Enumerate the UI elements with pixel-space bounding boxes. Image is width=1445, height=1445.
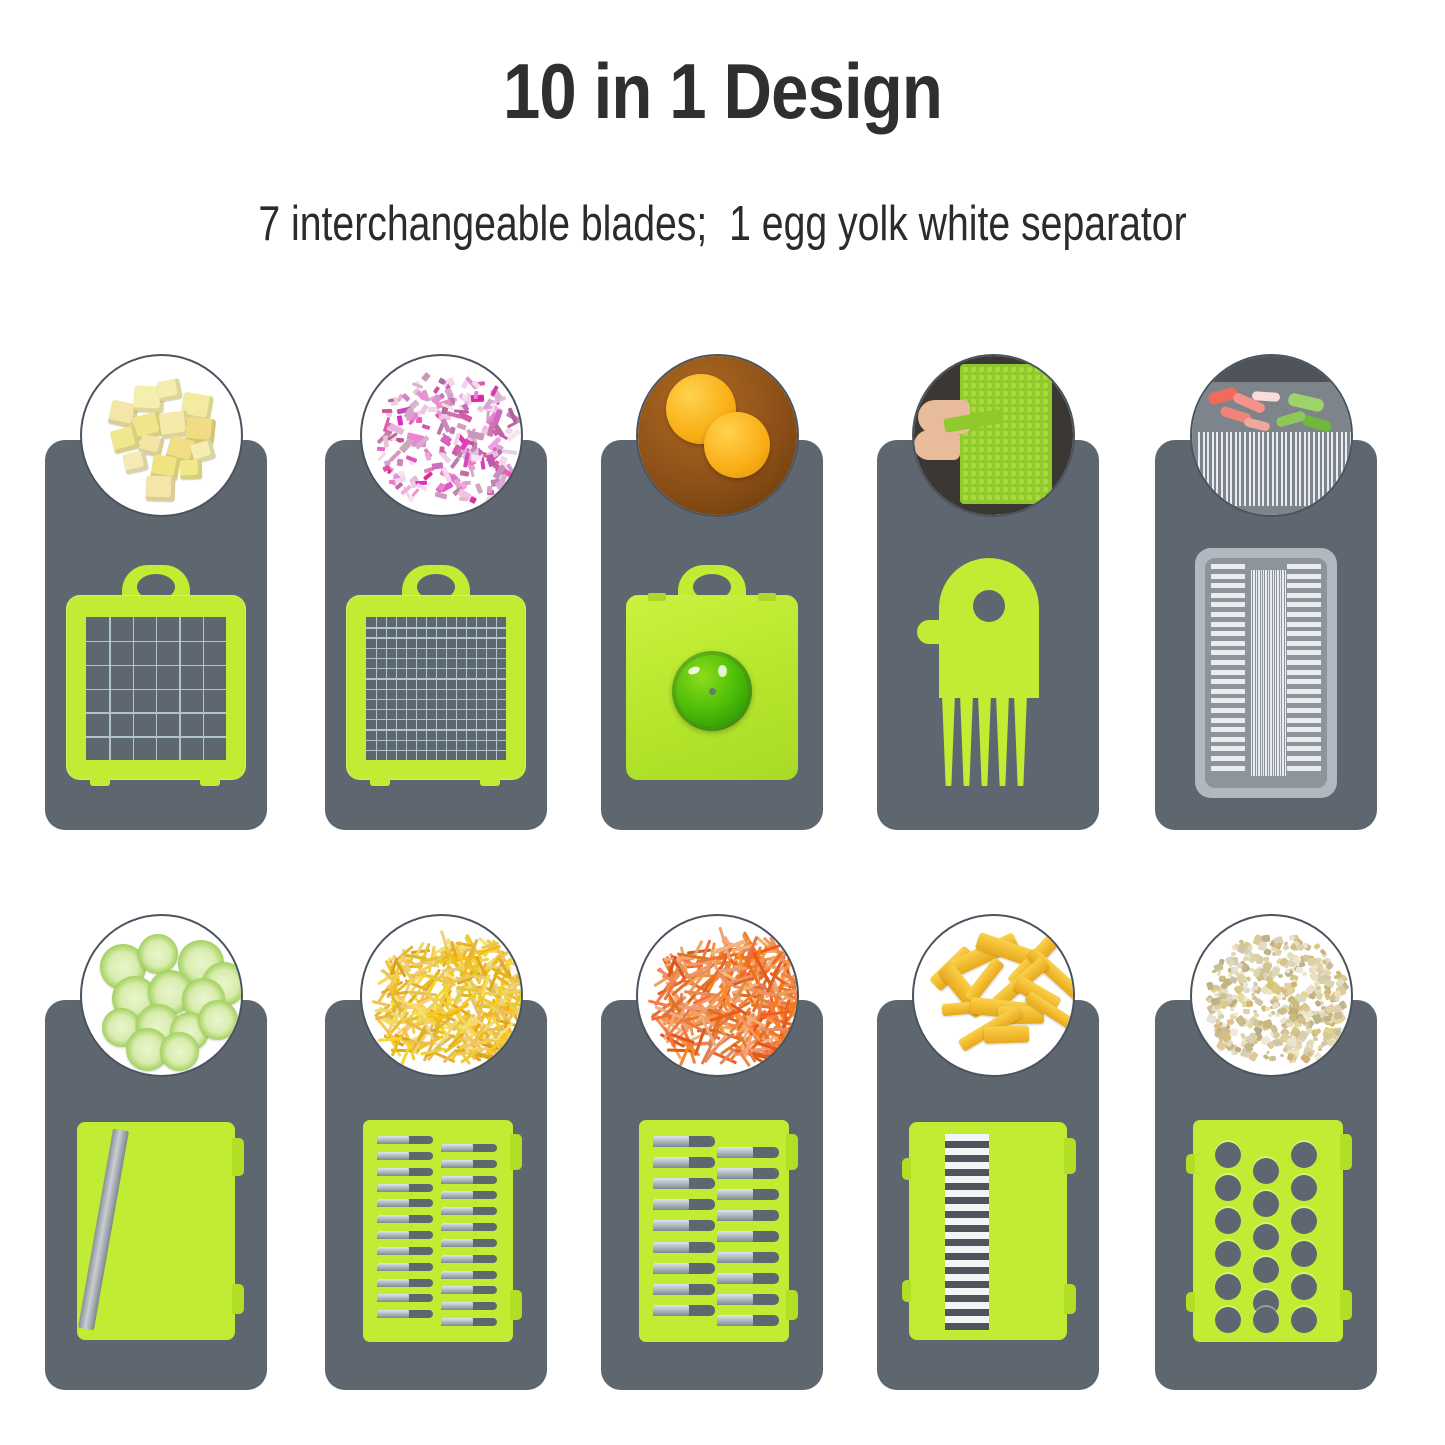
onion-bit [397, 415, 404, 426]
brush-stud [1027, 375, 1032, 380]
basket-comb-tooth [1276, 432, 1278, 506]
basket-slot [1287, 574, 1321, 579]
brush-stud [987, 391, 992, 396]
garlic-granule [1296, 967, 1303, 973]
brush-stud [963, 471, 968, 476]
basket-slot [1287, 679, 1321, 684]
brush-stud [987, 487, 992, 492]
brush-stud [1003, 399, 1008, 404]
brush-stud [979, 463, 984, 468]
basket-slot [1287, 583, 1321, 588]
basket-comb-tooth [1253, 432, 1255, 506]
julienne-tooth [717, 1273, 779, 1284]
comb-hole [973, 590, 1005, 622]
garlic-granule [1282, 997, 1286, 1001]
grid-line-horizontal [86, 712, 226, 713]
basket-slot [1211, 708, 1245, 713]
fine-potato-julienne-photo [360, 914, 523, 1077]
brush-stud [987, 439, 992, 444]
cleaning-comb-tool [917, 558, 1059, 788]
blade-tab-right [758, 593, 776, 601]
brush-stud [1027, 423, 1032, 428]
brush-stud [1043, 495, 1048, 500]
brush-stud [1003, 479, 1008, 484]
basket-comb-tooth [1226, 432, 1228, 506]
brush-stud [963, 455, 968, 460]
julienne-tooth [377, 1279, 433, 1287]
potato-cube [156, 378, 182, 402]
grater-hole [1291, 1175, 1317, 1201]
crinkle-cut-fries-photo [912, 914, 1075, 1077]
onion-bit [487, 486, 493, 493]
brush-stud [979, 367, 984, 372]
brush-stud [995, 375, 1000, 380]
basket-slot [1287, 631, 1321, 636]
garlic-granule [1265, 1007, 1270, 1011]
feature-tile-9 [850, 900, 1132, 1400]
brush-stud [987, 399, 992, 404]
garlic-granule [1320, 1040, 1328, 1047]
basket-slot [1253, 570, 1254, 776]
julienne-tooth [441, 1207, 497, 1215]
grater-hole [1215, 1142, 1241, 1168]
julienne-tooth [441, 1160, 497, 1168]
onion-bit [456, 423, 466, 431]
basket-comb-tooth [1235, 432, 1237, 506]
brush-stud [971, 447, 976, 452]
basket-slot [1287, 650, 1321, 655]
basket-comb-tooth [1290, 432, 1292, 506]
brush-stud [1011, 447, 1016, 452]
basket-slot [1211, 727, 1245, 732]
garlic-granule [1306, 1027, 1313, 1033]
brush-stud [971, 431, 976, 436]
garlic-granule [1328, 1040, 1336, 1046]
julienne-tooth [377, 1136, 433, 1144]
brush-stud [1035, 399, 1040, 404]
comb-body [939, 558, 1039, 698]
garlic-granule [1275, 942, 1282, 948]
basket-comb-tooth [1239, 432, 1241, 506]
brush-stud [987, 431, 992, 436]
brush-stud [963, 439, 968, 444]
cucumber-slice [160, 1032, 199, 1071]
brush-stud [971, 495, 976, 500]
julienne-tooth [377, 1294, 433, 1302]
basket-comb-tooth [1267, 432, 1269, 506]
garlic-granule [1243, 1009, 1250, 1014]
brush-stud [1011, 487, 1016, 492]
brush-stud [1027, 447, 1032, 452]
julienne-tooth [377, 1184, 433, 1192]
basket-comb-tooth [1221, 432, 1223, 506]
brush-stud [1011, 423, 1016, 428]
onion-bit [471, 454, 483, 461]
brush-stud [995, 439, 1000, 444]
diced-potato-cubes-photo [80, 354, 243, 517]
julienne-tooth [377, 1231, 433, 1239]
grater-hole [1291, 1241, 1317, 1267]
brush-stud [979, 375, 984, 380]
feature-tile-4 [850, 340, 1132, 840]
brush-stud [1019, 439, 1024, 444]
brush-stud [971, 439, 976, 444]
brush-stud [1043, 479, 1048, 484]
julienne-tooth [377, 1247, 433, 1255]
julienne-tooth [441, 1318, 497, 1326]
fine-dicing-blade [346, 565, 526, 780]
grater-hole [1291, 1142, 1317, 1168]
grid-line-vertical [179, 617, 180, 760]
basket-comb-tooth [1304, 432, 1306, 506]
basket-slot [1287, 708, 1321, 713]
brush-stud [1003, 487, 1008, 492]
onion-bit [439, 446, 445, 452]
julienne-tooth [377, 1263, 433, 1271]
basket-comb-tooth [1272, 432, 1274, 506]
basket-slot [1280, 570, 1281, 776]
basket-comb-tooth [1336, 432, 1338, 506]
egg-yolk-white-separator [622, 565, 802, 780]
brush-stud [1043, 471, 1048, 476]
brush-stud [963, 367, 968, 372]
basket-slot [1287, 670, 1321, 675]
garlic-granule [1271, 947, 1276, 951]
feature-tile-10 [1128, 900, 1410, 1400]
onion-bit [433, 386, 440, 394]
potato-cube [146, 476, 176, 502]
julienne-strand [784, 982, 799, 986]
onion-bit [435, 492, 448, 500]
basket-comb-tooth [1212, 432, 1214, 506]
onion-bit [460, 470, 470, 477]
brush-stud [1019, 479, 1024, 484]
basket-comb-tooth [1281, 432, 1283, 506]
brush-stud [987, 367, 992, 372]
garlic-granule [1276, 949, 1283, 956]
blade-foot-right [200, 777, 220, 786]
brush-stud [963, 495, 968, 500]
basket-slot [1261, 570, 1262, 776]
brush-stud [1019, 415, 1024, 420]
julienne-tooth [653, 1220, 715, 1231]
basket-comb-tooth [1216, 432, 1218, 506]
onion-bit [397, 459, 404, 467]
potato-cube [180, 460, 203, 480]
brush-stud [1011, 391, 1016, 396]
brush-stud [1043, 375, 1048, 380]
brush-stud [987, 463, 992, 468]
onion-bit [422, 424, 431, 430]
grid-line-vertical [476, 617, 477, 760]
brush-stud [1027, 415, 1032, 420]
brush-stud [1019, 463, 1024, 468]
brush-stud [995, 447, 1000, 452]
grid-line-horizontal [366, 709, 506, 710]
basket-slot [1287, 766, 1321, 771]
grid-line-horizontal [86, 689, 226, 690]
basket-slot [1265, 570, 1266, 776]
brush-stud [979, 399, 984, 404]
garlic-granule [1286, 1022, 1293, 1027]
hand-holding-cleaning-comb-photo [912, 354, 1075, 517]
brush-stud [971, 383, 976, 388]
basket-slot [1287, 737, 1321, 742]
blade-frame [66, 595, 246, 780]
basket-comb-tooth [1262, 432, 1264, 506]
grater-ear-top [1340, 1134, 1352, 1170]
page-subtitle: 7 interchangeable blades; 1 egg yolk whi… [145, 200, 1301, 249]
basket-comb-tooth [1318, 432, 1320, 506]
product-infographic: 10 in 1 Design 7 interchangeable blades;… [0, 0, 1445, 1445]
basket-slot [1287, 756, 1321, 761]
basket-rim [1192, 356, 1353, 382]
brush-stud [971, 471, 976, 476]
coarse-dicing-blade [66, 565, 246, 780]
brush-stud [979, 447, 984, 452]
garlic-granule [1299, 961, 1306, 967]
basket-slot [1211, 602, 1245, 607]
brush-stud [1043, 439, 1048, 444]
comb-tooth [1014, 694, 1027, 786]
onion-bit [470, 470, 475, 478]
julienne-strand [372, 1000, 389, 1007]
comb-tooth [942, 694, 955, 786]
julienne-tooth [653, 1178, 715, 1189]
brush-stud [995, 487, 1000, 492]
basket-slot [1211, 660, 1245, 665]
basket-slot [1211, 641, 1245, 646]
julienne-tooth [653, 1199, 715, 1210]
garlic-granule [1289, 962, 1295, 968]
onion-bit [401, 393, 410, 402]
basket-slot [1287, 746, 1321, 751]
grid-line-horizontal [366, 689, 506, 690]
brush-stud [1035, 463, 1040, 468]
basket-slot [1287, 602, 1321, 607]
egg-yolks-in-bowl-photo [636, 354, 799, 517]
crinkle-fry [984, 1025, 1030, 1044]
julienne-tooth [717, 1294, 779, 1305]
grater-hole [1215, 1175, 1241, 1201]
brush-stud [1043, 487, 1048, 492]
carrot-julienne-photo [636, 914, 799, 1077]
brush-stud [1011, 439, 1016, 444]
brush-stud [1035, 439, 1040, 444]
basket-slot [1287, 612, 1321, 617]
julienne-tooth [377, 1152, 433, 1160]
grater-hole [1253, 1257, 1279, 1283]
brush-stud [1019, 495, 1024, 500]
brush-stud [995, 455, 1000, 460]
brush-stud [979, 439, 984, 444]
basket-slot [1273, 570, 1274, 776]
cucumber-slice [198, 1000, 238, 1040]
basket-comb-tooth [1295, 432, 1297, 506]
brush-stud [995, 495, 1000, 500]
wavy-crinkle-blade [909, 1122, 1067, 1340]
blade-grid-fine [366, 617, 506, 760]
grid-line-vertical [486, 617, 487, 760]
wavy-ear-bottom [1064, 1284, 1076, 1314]
brush-stud [971, 463, 976, 468]
brush-stud [1011, 375, 1016, 380]
brush-stud [1019, 471, 1024, 476]
grid-line-vertical [466, 617, 467, 760]
garlic-granule [1231, 952, 1236, 956]
basket-slot [1287, 593, 1321, 598]
blade-foot-left [370, 777, 390, 786]
wavy-steel-teeth [945, 1134, 989, 1330]
brush-stud [1027, 439, 1032, 444]
julienne-tooth [717, 1231, 779, 1242]
brush-stud [1003, 431, 1008, 436]
feature-tile-2 [298, 340, 580, 840]
garlic-granule [1287, 1038, 1296, 1046]
julienne-tooth [717, 1168, 779, 1179]
coarse-julienne-blade [639, 1120, 789, 1342]
brush-stud [963, 447, 968, 452]
wavy-ear-left-bottom [902, 1280, 911, 1302]
brush-stud [971, 479, 976, 484]
brush-stud [1035, 391, 1040, 396]
brush-stud [1035, 375, 1040, 380]
brush-stud [1019, 447, 1024, 452]
blade-frame [346, 595, 526, 780]
brush-stud [1019, 455, 1024, 460]
grater-hole [1215, 1208, 1241, 1234]
basket-slot [1287, 727, 1321, 732]
brush-stud [1043, 447, 1048, 452]
brush-stud [1035, 455, 1040, 460]
brush-stud [1043, 391, 1048, 396]
dome-center-dot [709, 688, 716, 695]
julienne-tooth [377, 1168, 433, 1176]
brush-stud [995, 399, 1000, 404]
brush-stud [1043, 383, 1048, 388]
basket-slot [1268, 570, 1269, 776]
onion-bit [411, 488, 419, 497]
brush-stud [1035, 423, 1040, 428]
basket-comb-tooth [1285, 432, 1287, 506]
onion-bit [459, 497, 468, 502]
brush-stud [971, 367, 976, 372]
basket-slot [1211, 583, 1245, 588]
julienne-ear-bottom [786, 1290, 798, 1320]
brush-stud [971, 407, 976, 412]
brush-stud [971, 375, 976, 380]
julienne-tooth [717, 1189, 779, 1200]
julienne-tooth [441, 1191, 497, 1199]
brush-stud [1027, 383, 1032, 388]
basket-slot [1211, 670, 1245, 675]
garlic-granule [1280, 1054, 1284, 1058]
julienne-strand [760, 1028, 788, 1031]
basket-slot [1211, 593, 1245, 598]
brush-stud [1011, 455, 1016, 460]
comb-tooth [960, 694, 973, 786]
minced-garlic-photo [1190, 914, 1353, 1077]
grater-hole [1291, 1208, 1317, 1234]
hand-finger [914, 430, 960, 460]
comb-tooth [996, 694, 1009, 786]
basket-slot [1258, 570, 1259, 776]
julienne-tooth [653, 1284, 715, 1295]
brush-stud [987, 375, 992, 380]
basket-slot [1211, 718, 1245, 723]
brush-stud [1003, 439, 1008, 444]
blade-foot-right [480, 777, 500, 786]
onion-bit [461, 380, 469, 389]
brush-stud [1003, 423, 1008, 428]
basket-slot [1211, 574, 1245, 579]
grid-line-horizontal [366, 699, 506, 700]
brush-stud [1003, 367, 1008, 372]
julienne-tooth [717, 1147, 779, 1158]
grater-hole [1215, 1274, 1241, 1300]
feature-tile-7 [298, 900, 580, 1400]
basket-slot [1287, 698, 1321, 703]
brush-stud [979, 495, 984, 500]
brush-stud [963, 375, 968, 380]
brush-stud [1043, 399, 1048, 404]
brush-stud [1003, 495, 1008, 500]
brush-stud [979, 487, 984, 492]
slicer-ear-top [232, 1138, 244, 1176]
brush-stud [1027, 399, 1032, 404]
basket-slot [1263, 570, 1264, 776]
basket-slot [1287, 689, 1321, 694]
brush-stud [1035, 383, 1040, 388]
basket-comb-tooth [1308, 432, 1310, 506]
basket-comb-tooth [1341, 432, 1343, 506]
brush-stud [995, 463, 1000, 468]
brush-stud [963, 487, 968, 492]
brush-stud [1003, 463, 1008, 468]
basket-slot [1275, 570, 1276, 776]
brush-stud [1019, 375, 1024, 380]
brush-stud [1003, 471, 1008, 476]
basket-slot [1287, 641, 1321, 646]
basket-slot [1211, 746, 1245, 751]
vegetable-slice [1252, 391, 1281, 402]
grater-hole [1253, 1191, 1279, 1217]
brush-stud [1003, 383, 1008, 388]
basket-slot [1211, 612, 1245, 617]
brush-stud [1027, 407, 1032, 412]
garlic-granule [1246, 1000, 1254, 1007]
basket-comb-tooth [1345, 432, 1347, 506]
grid-line-horizontal [366, 750, 506, 751]
brush-stud [1019, 407, 1024, 412]
julienne-tooth [653, 1263, 715, 1274]
grid-line-horizontal [366, 740, 506, 741]
julienne-tooth [653, 1157, 715, 1168]
brush-stud [1035, 415, 1040, 420]
julienne-tooth [717, 1315, 779, 1326]
grater-hole [1291, 1274, 1317, 1300]
julienne-ear-top [786, 1134, 798, 1170]
potato-cube [122, 450, 149, 475]
brush-stud [971, 399, 976, 404]
brush-stud [995, 383, 1000, 388]
julienne-tooth [441, 1223, 497, 1231]
brush-stud [1043, 463, 1048, 468]
basket-comb-tooth [1299, 432, 1301, 506]
basket-comb-tooth [1244, 432, 1246, 506]
julienne-tooth [653, 1305, 715, 1316]
garlic-granule [1297, 995, 1306, 1003]
